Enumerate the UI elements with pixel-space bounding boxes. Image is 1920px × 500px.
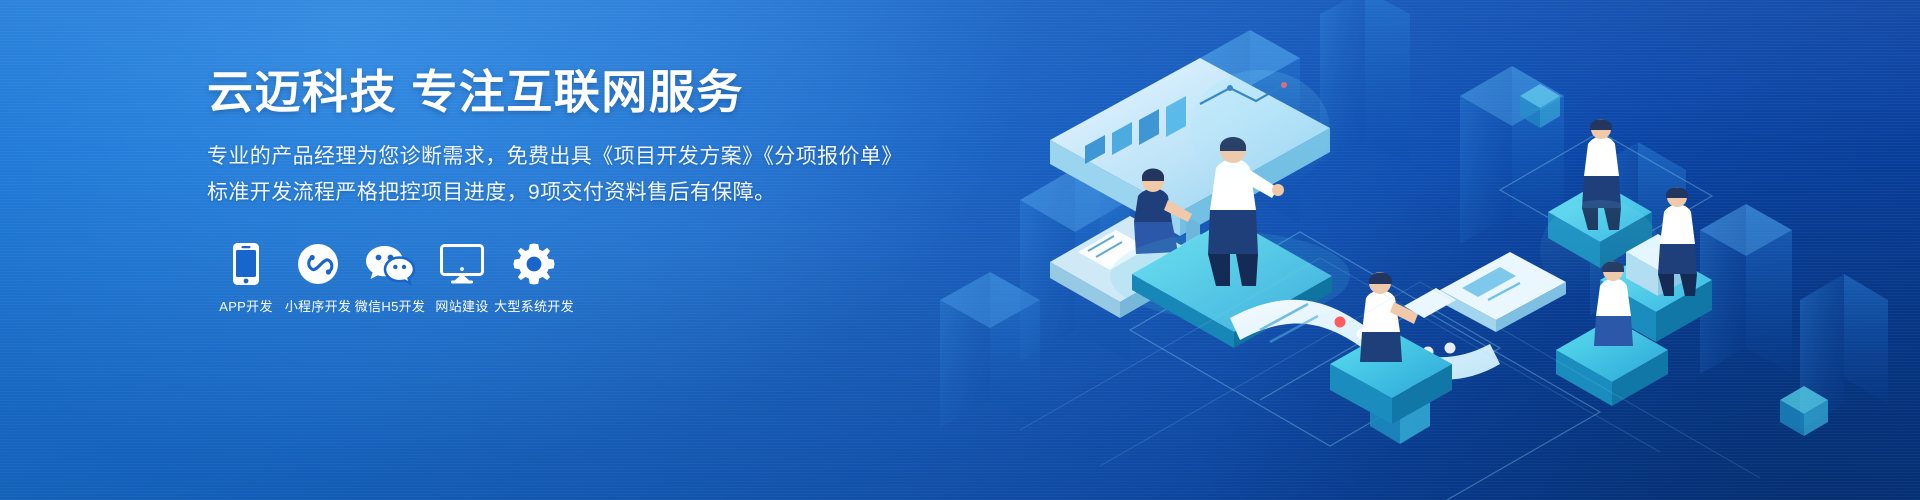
mini-program-icon (297, 242, 339, 286)
service-item-app[interactable]: APP开发 (211, 242, 281, 315)
service-icon-list: APP开发 小程序开发 (211, 242, 907, 315)
mobile-phone-icon (232, 242, 260, 286)
service-item-wechat-h5[interactable]: 微信H5开发 (355, 242, 425, 315)
banner-title: 云迈科技 专注互联网服务 (207, 64, 907, 120)
banner-subtitle: 专业的产品经理为您诊断需求，免费出具《项目开发方案》《分项报价单》 标准开发流程… (207, 142, 907, 208)
isometric-tech-illustration (900, 0, 1920, 500)
service-label-large-system: 大型系统开发 (494, 299, 574, 315)
wechat-icon (365, 242, 415, 286)
service-label-wechat-h5: 微信H5开发 (355, 299, 425, 315)
subtitle-line-1: 专业的产品经理为您诊断需求，免费出具《项目开发方案》《分项报价单》 (207, 142, 907, 172)
gear-icon (513, 242, 555, 286)
monitor-icon (440, 242, 484, 286)
hero-banner: 云迈科技 专注互联网服务 专业的产品经理为您诊断需求，免费出具《项目开发方案》《… (0, 0, 1920, 500)
service-label-app: APP开发 (219, 299, 273, 315)
service-item-website[interactable]: 网站建设 (427, 242, 497, 315)
service-label-mini-program: 小程序开发 (285, 299, 352, 315)
banner-content: 云迈科技 专注互联网服务 专业的产品经理为您诊断需求，免费出具《项目开发方案》《… (207, 64, 907, 315)
service-item-large-system[interactable]: 大型系统开发 (499, 242, 569, 315)
subtitle-line-2: 标准开发流程严格把控项目进度，9项交付资料售后有保障。 (207, 178, 907, 208)
service-label-website: 网站建设 (435, 299, 488, 315)
service-item-mini-program[interactable]: 小程序开发 (283, 242, 353, 315)
